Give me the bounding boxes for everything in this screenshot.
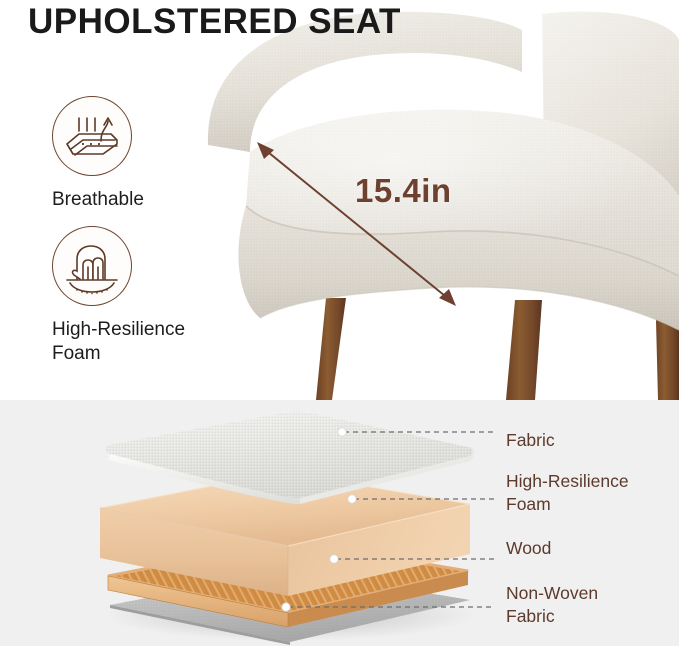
feature-foam-label: High-Resilience Foam (52, 318, 185, 367)
layer-label-non-woven-fabric: Non-Woven Fabric (506, 582, 598, 628)
breathable-fabric-airflow-icon (52, 96, 132, 176)
infographic-root: UPHOLSTERED SEAT 15.4in (0, 0, 679, 646)
layer-label-fabric: Fabric (506, 429, 555, 452)
feature-breathable: Breathable (52, 96, 144, 212)
construction-panel: Fabric High-Resilience Foam Wood Non-Wov… (0, 400, 679, 646)
hand-pressing-foam-icon (52, 226, 132, 306)
layer-label-wood: Wood (506, 537, 551, 560)
page-title: UPHOLSTERED SEAT (28, 2, 401, 42)
top-panel: UPHOLSTERED SEAT 15.4in (0, 0, 679, 400)
feature-breathable-label: Breathable (52, 188, 144, 212)
feature-high-resilience-foam: High-Resilience Foam (52, 226, 185, 367)
dimension-value-label: 15.4in (355, 172, 452, 210)
fabric-layer (105, 411, 474, 504)
layer-label-high-resilience-foam: High-Resilience Foam (506, 470, 629, 516)
